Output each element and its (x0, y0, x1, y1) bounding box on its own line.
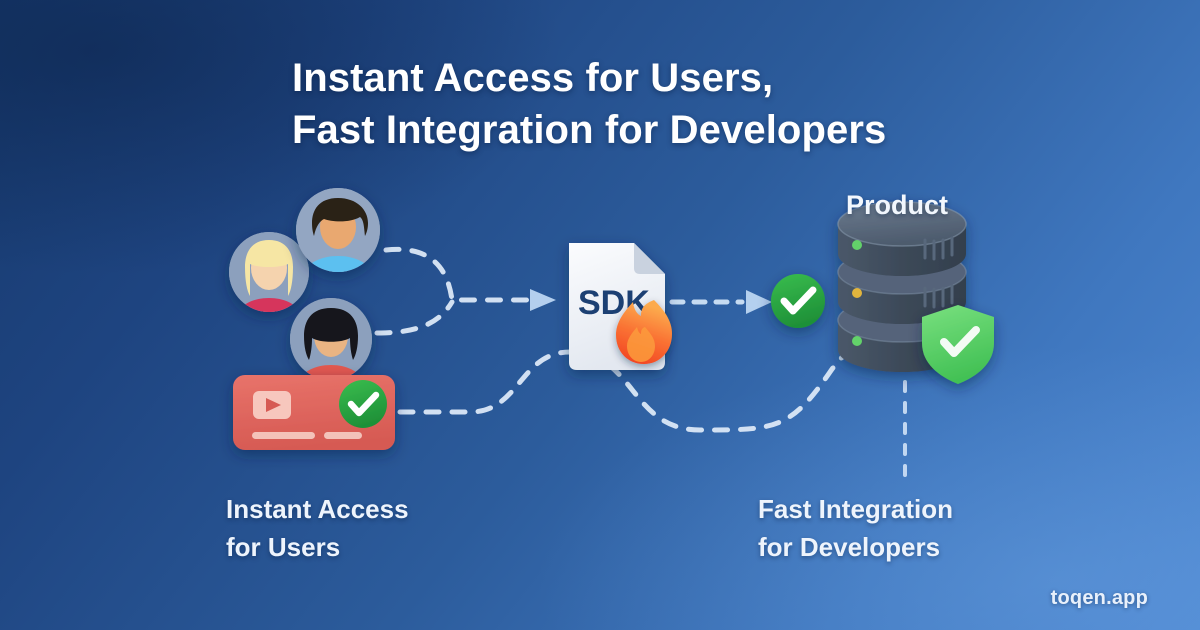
arrowhead-icon (530, 289, 556, 311)
arrowhead-icon (746, 290, 772, 314)
connector-users-to-sdk-upper (386, 249, 556, 311)
connector-sdk-to-check (672, 290, 772, 314)
card-check-badge (339, 380, 387, 428)
caption-instant-access: Instant Access for Users (226, 490, 409, 566)
page-fold-icon (634, 243, 665, 274)
status-led (852, 288, 862, 298)
infographic-canvas: SDK (0, 0, 1200, 630)
product-label: Product (846, 190, 948, 221)
connector-users-to-sdk-lower (377, 302, 452, 333)
access-card (233, 375, 395, 450)
avatar-left (229, 232, 309, 324)
status-led (852, 240, 862, 250)
caption-left-line-2: for Users (226, 528, 409, 566)
headline-line-2: Fast Integration for Developers (292, 104, 992, 156)
card-bar (252, 432, 315, 439)
headline: Instant Access for Users, Fast Integrati… (292, 52, 992, 156)
headline-line-1: Instant Access for Users, (292, 52, 992, 104)
watermark-toqen-app: toqen.app (1051, 587, 1148, 610)
security-shield (922, 305, 994, 384)
card-bar (324, 432, 362, 439)
caption-fast-integration: Fast Integration for Developers (758, 490, 953, 566)
caption-right-line-1: Fast Integration (758, 490, 953, 528)
success-check-badge (771, 274, 825, 328)
status-led (852, 336, 862, 346)
caption-right-line-2: for Developers (758, 528, 953, 566)
caption-left-line-1: Instant Access (226, 490, 409, 528)
